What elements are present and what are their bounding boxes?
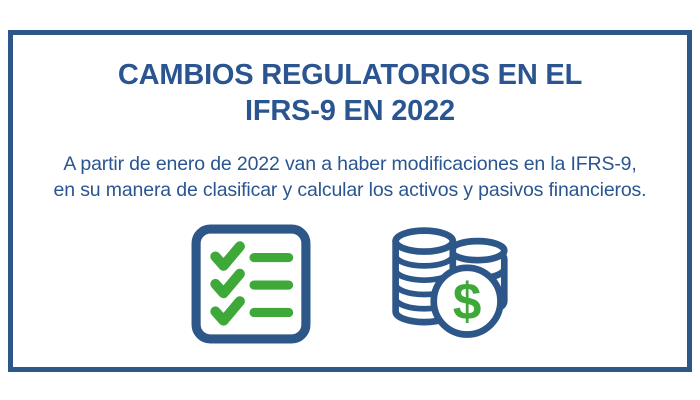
page-title: CAMBIOS REGULATORIOS EN EL IFRS-9 EN 202… — [13, 57, 687, 129]
coins-dollar-icon: $ — [388, 223, 510, 345]
subtitle-line-2: en su manera de clasificar y calcular lo… — [13, 177, 687, 203]
page-title-line-1: CAMBIOS REGULATORIOS EN EL — [13, 57, 687, 93]
checklist-icon — [190, 223, 312, 345]
dollar-coin: $ — [434, 268, 501, 335]
page-title-line-2: IFRS-9 EN 2022 — [13, 93, 687, 129]
infographic-card: CAMBIOS REGULATORIOS EN EL IFRS-9 EN 202… — [8, 30, 692, 372]
subtitle-text: A partir de enero de 2022 van a haber mo… — [13, 151, 687, 203]
dollar-sign-glyph: $ — [453, 272, 482, 330]
subtitle-line-1: A partir de enero de 2022 van a haber mo… — [13, 151, 687, 177]
icon-row: $ — [13, 219, 687, 349]
